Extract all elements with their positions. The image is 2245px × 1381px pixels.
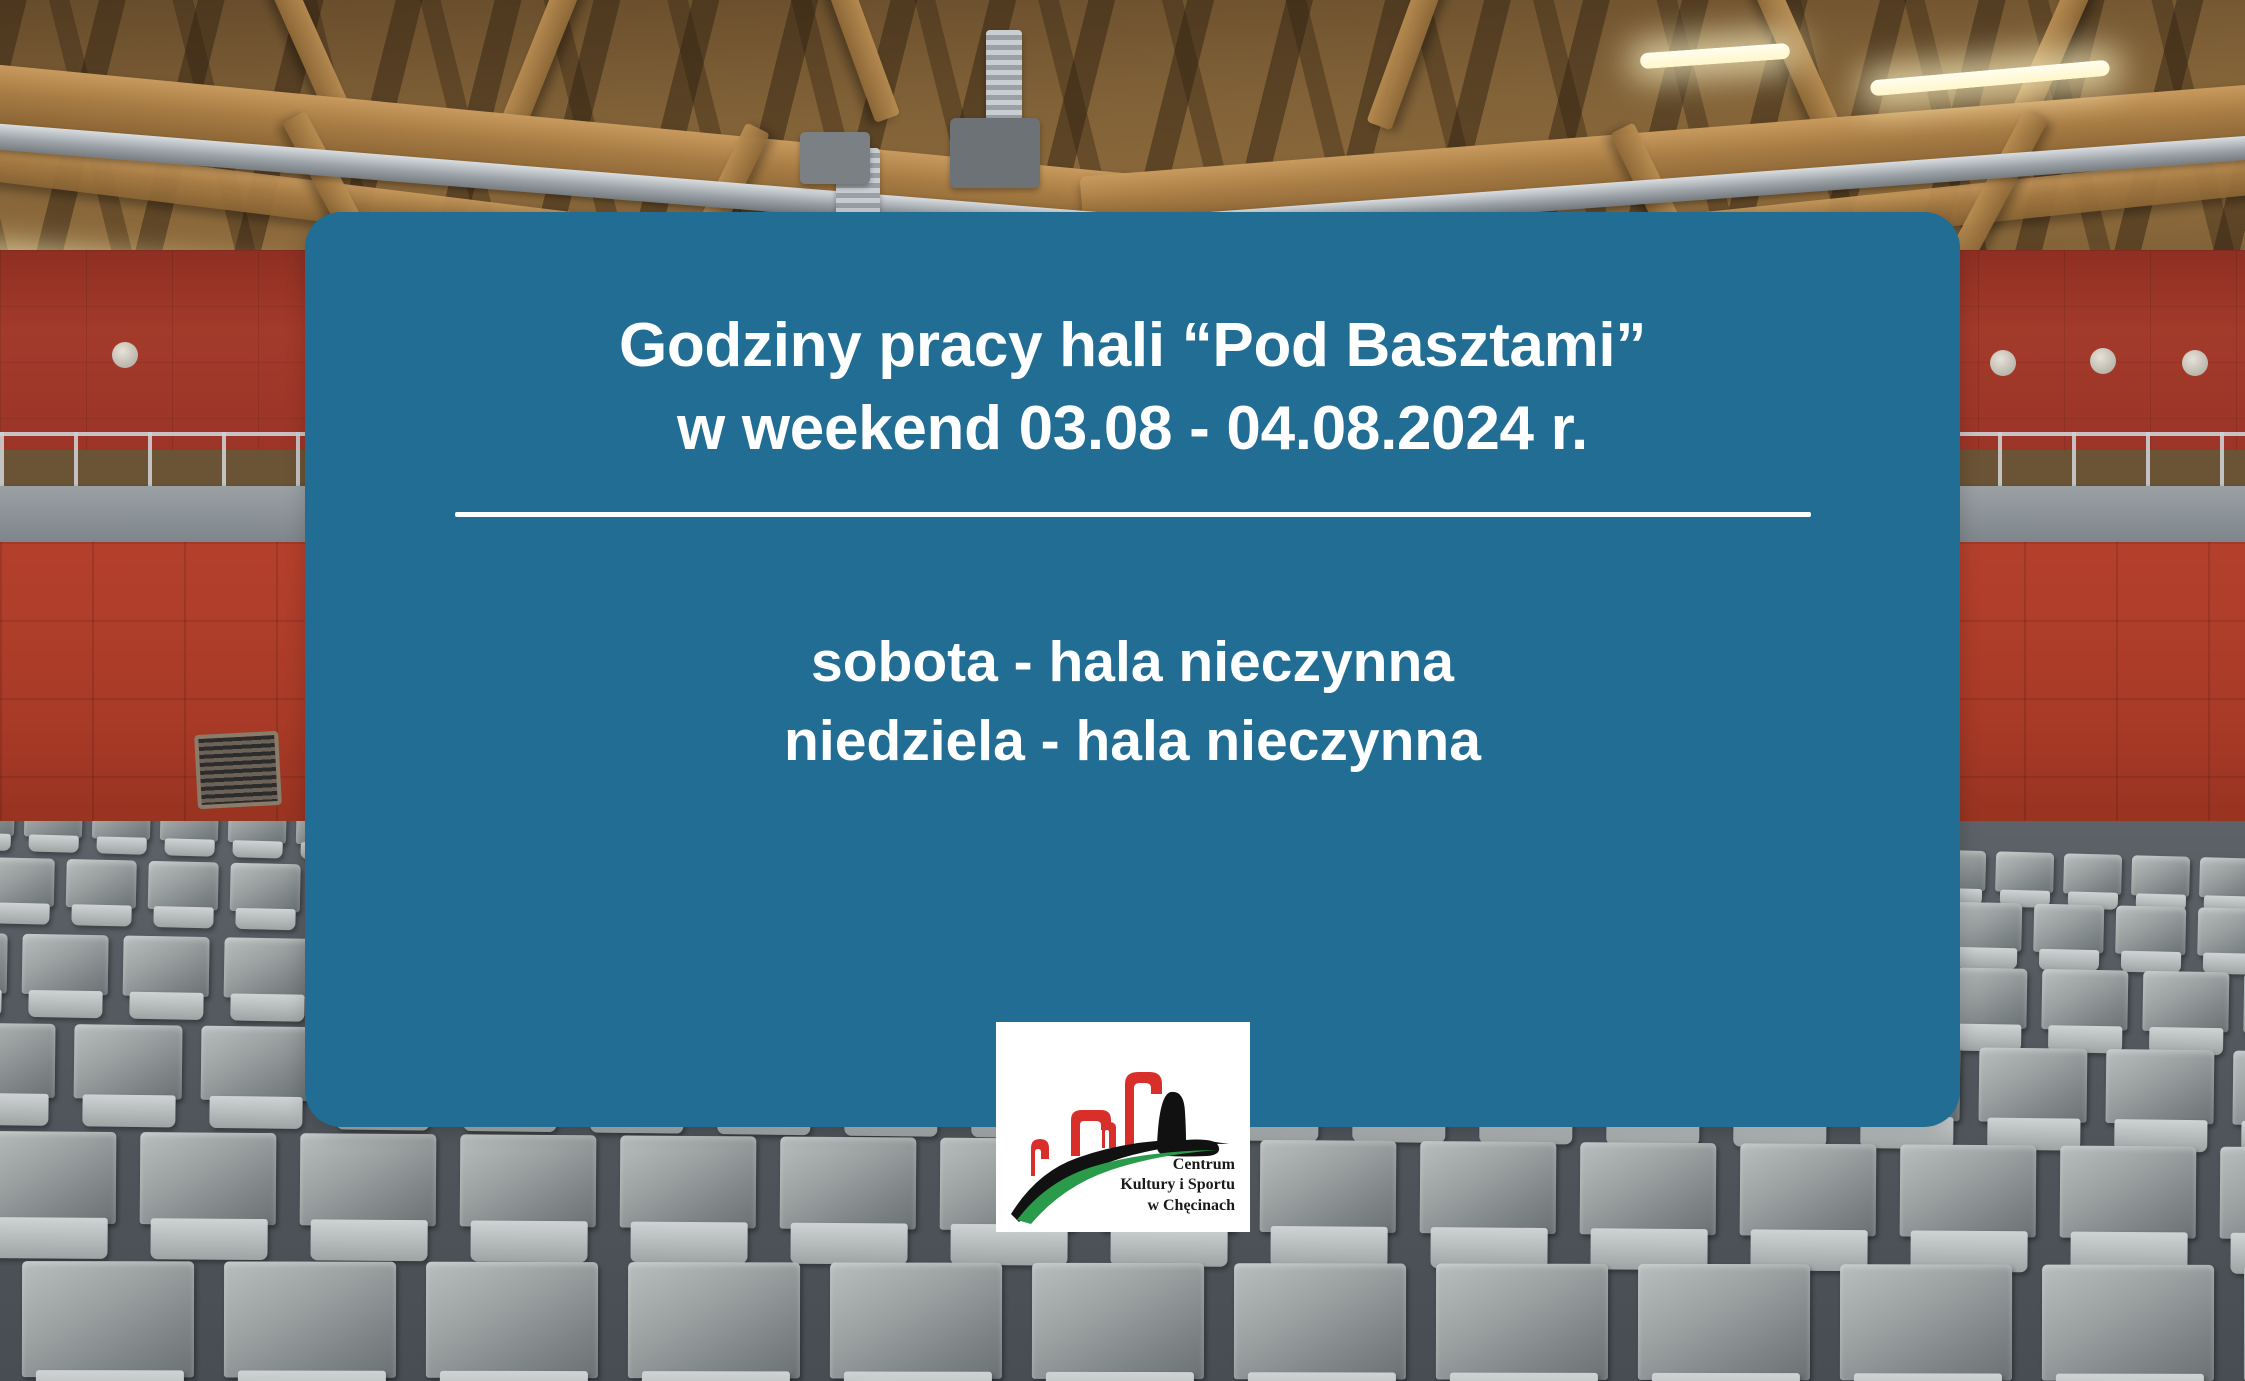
schedule-row-saturday: sobota - hala nieczynna bbox=[784, 623, 1481, 702]
logo-wordmark: Centrum Kultury i Sportu w Chęcinach bbox=[1120, 1155, 1235, 1216]
page-title: Godziny pracy hali “Pod Basztami” w week… bbox=[305, 304, 1960, 470]
bleacher-seat bbox=[1900, 1144, 2037, 1237]
bleacher-seat bbox=[2042, 969, 2129, 1030]
ventilation-box bbox=[800, 132, 870, 184]
bleacher-seat bbox=[1032, 1263, 1204, 1379]
seat-row bbox=[0, 1261, 2245, 1381]
bleacher-seat bbox=[2233, 1051, 2245, 1126]
bleacher-seat bbox=[0, 1131, 117, 1224]
poster-canvas: ZNICZ CHĘCINY Piast Chęciny bbox=[0, 0, 2245, 1381]
bleacher-seat bbox=[2042, 1265, 2214, 1381]
bleacher-seat bbox=[22, 1261, 194, 1377]
bleacher-seat bbox=[0, 1023, 56, 1098]
bleacher-seat bbox=[1996, 851, 2055, 893]
bleacher-seat bbox=[426, 1262, 598, 1378]
bleacher-seat bbox=[2220, 1147, 2245, 1240]
logo-line-1: Centrum bbox=[1120, 1155, 1235, 1175]
bleacher-seat bbox=[224, 937, 311, 998]
wall-porthole bbox=[2090, 348, 2116, 374]
bleacher-seat bbox=[620, 1135, 757, 1228]
bleacher-seat bbox=[1740, 1143, 1877, 1236]
bleacher-seat bbox=[2199, 857, 2245, 899]
wall-porthole bbox=[112, 342, 138, 368]
bleacher-seat bbox=[1420, 1141, 1557, 1234]
bleacher-seat bbox=[2060, 1146, 2197, 1239]
bleacher-seat bbox=[0, 932, 8, 993]
info-card: Godziny pracy hali “Pod Basztami” w week… bbox=[305, 212, 1960, 1127]
bleacher-seat bbox=[1952, 902, 2023, 952]
bleacher-seat bbox=[201, 1026, 310, 1101]
bleacher-seat bbox=[830, 1262, 1002, 1378]
bleacher-seat bbox=[140, 1132, 277, 1225]
wall-porthole bbox=[2182, 350, 2208, 376]
bleacher-seat bbox=[2143, 971, 2230, 1032]
bleacher-seat bbox=[300, 1133, 437, 1226]
bleacher-seat bbox=[74, 1024, 183, 1099]
bleacher-seat bbox=[2116, 906, 2187, 956]
bleacher-seat bbox=[1436, 1264, 1608, 1380]
schedule-row-sunday: niedziela - hala nieczynna bbox=[784, 702, 1481, 781]
wall-porthole bbox=[1990, 350, 2016, 376]
ventilation-box bbox=[950, 118, 1040, 188]
bleacher-seat bbox=[1638, 1264, 1810, 1380]
bleacher-seat bbox=[1979, 1047, 2088, 1122]
bleacher-seat bbox=[2063, 853, 2122, 895]
logo-artwork: Centrum Kultury i Sportu w Chęcinach bbox=[1005, 1028, 1241, 1224]
bleacher-seat bbox=[460, 1134, 597, 1227]
bleacher-seat bbox=[148, 861, 219, 911]
bleacher-seat bbox=[1580, 1142, 1717, 1235]
bleacher-seat bbox=[2198, 907, 2245, 957]
bleacher-seat bbox=[1840, 1264, 2012, 1380]
bleacher-seat bbox=[230, 863, 301, 913]
wall-vent-grille bbox=[194, 731, 282, 809]
bleacher-seat bbox=[2106, 1049, 2215, 1124]
bleacher-seat bbox=[224, 1261, 396, 1377]
bleacher-seat bbox=[228, 821, 287, 844]
bleacher-seat bbox=[628, 1262, 800, 1378]
bleacher-seat bbox=[92, 821, 151, 840]
logo-line-2: Kultury i Sportu bbox=[1120, 1175, 1235, 1195]
bleacher-seat bbox=[780, 1137, 917, 1230]
bleacher-seat bbox=[24, 821, 83, 838]
logo-line-3: w Chęcinach bbox=[1120, 1196, 1235, 1216]
bleacher-seat bbox=[1260, 1140, 1397, 1233]
bleacher-seat bbox=[0, 821, 15, 836]
bleacher-seat bbox=[1234, 1263, 1406, 1379]
bleacher-seat bbox=[123, 936, 210, 997]
bleacher-seat bbox=[0, 857, 55, 907]
title-divider bbox=[455, 512, 1811, 517]
schedule-list: sobota - hala nieczynna niedziela - hala… bbox=[784, 623, 1481, 780]
bleacher-seat bbox=[66, 859, 137, 909]
bleacher-seat bbox=[2034, 904, 2105, 954]
bleacher-seat bbox=[2131, 855, 2190, 897]
bleacher-seat bbox=[160, 821, 219, 842]
bleacher-seat bbox=[22, 934, 109, 995]
organization-logo: Centrum Kultury i Sportu w Chęcinach bbox=[996, 1022, 1250, 1232]
